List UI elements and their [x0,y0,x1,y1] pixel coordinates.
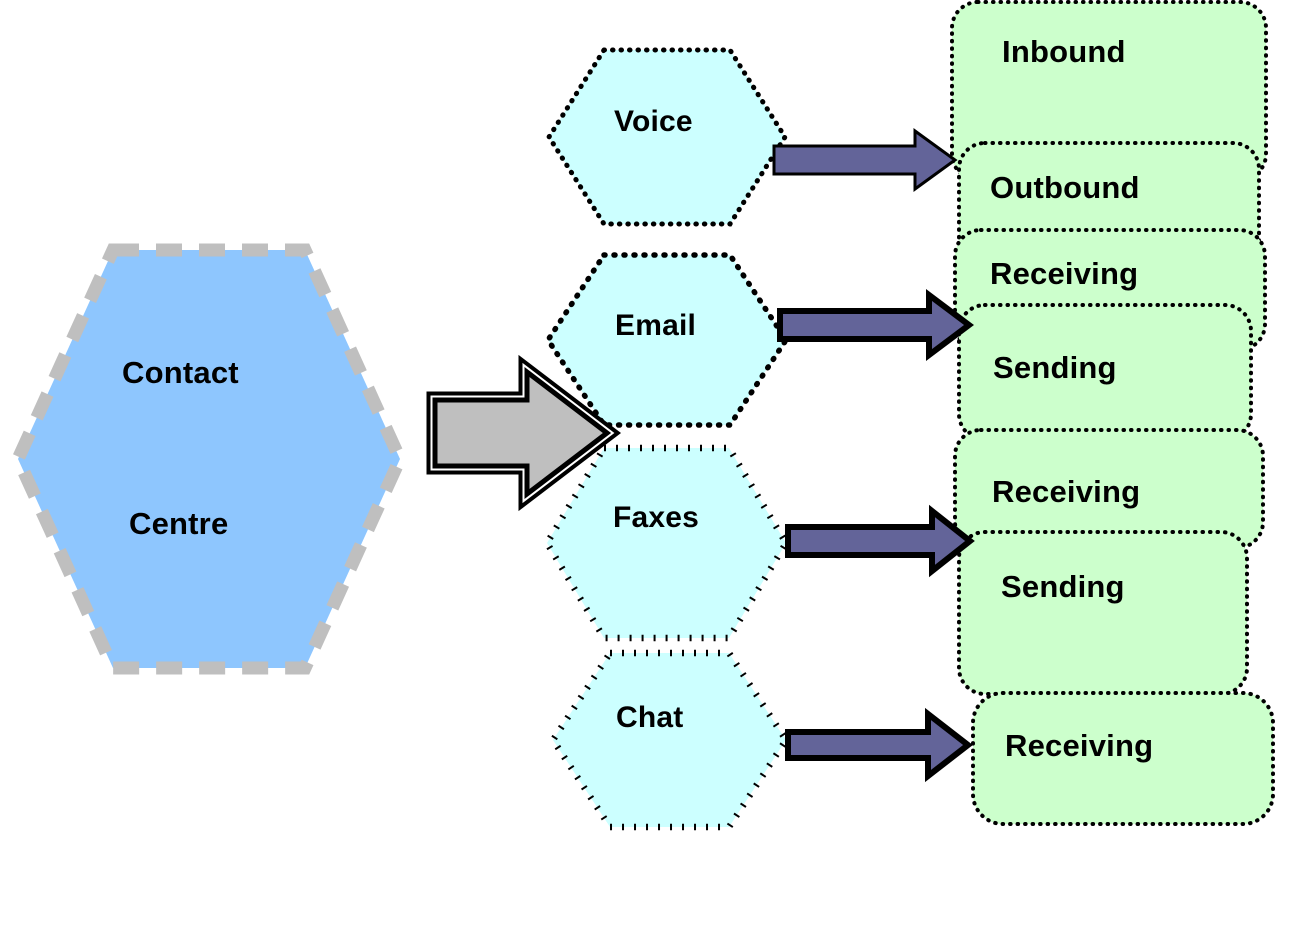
direction-receiving-email-label: Receiving [990,258,1138,289]
channel-voice-label: Voice [614,107,693,137]
channel-email-label: Email [615,311,696,341]
direction-sending-email-label: Sending [993,352,1117,383]
channel-chat-label: Chat [616,703,683,733]
contact-centre-label-line2: Centre [129,508,228,539]
direction-sending-fax-label: Sending [1001,571,1125,602]
direction-receiving-fax-label: Receiving [992,476,1140,507]
diagram-labels: Contact Centre Voice Email Faxes Chat In… [0,0,1294,947]
direction-inbound-label: Inbound [1002,36,1126,67]
diagram-canvas: Contact Centre Voice Email Faxes Chat In… [0,0,1294,947]
channel-faxes-label: Faxes [613,503,699,533]
contact-centre-label-line1: Contact [122,357,239,388]
direction-receiving-chat-label: Receiving [1005,730,1153,761]
direction-outbound-label: Outbound [990,172,1140,203]
